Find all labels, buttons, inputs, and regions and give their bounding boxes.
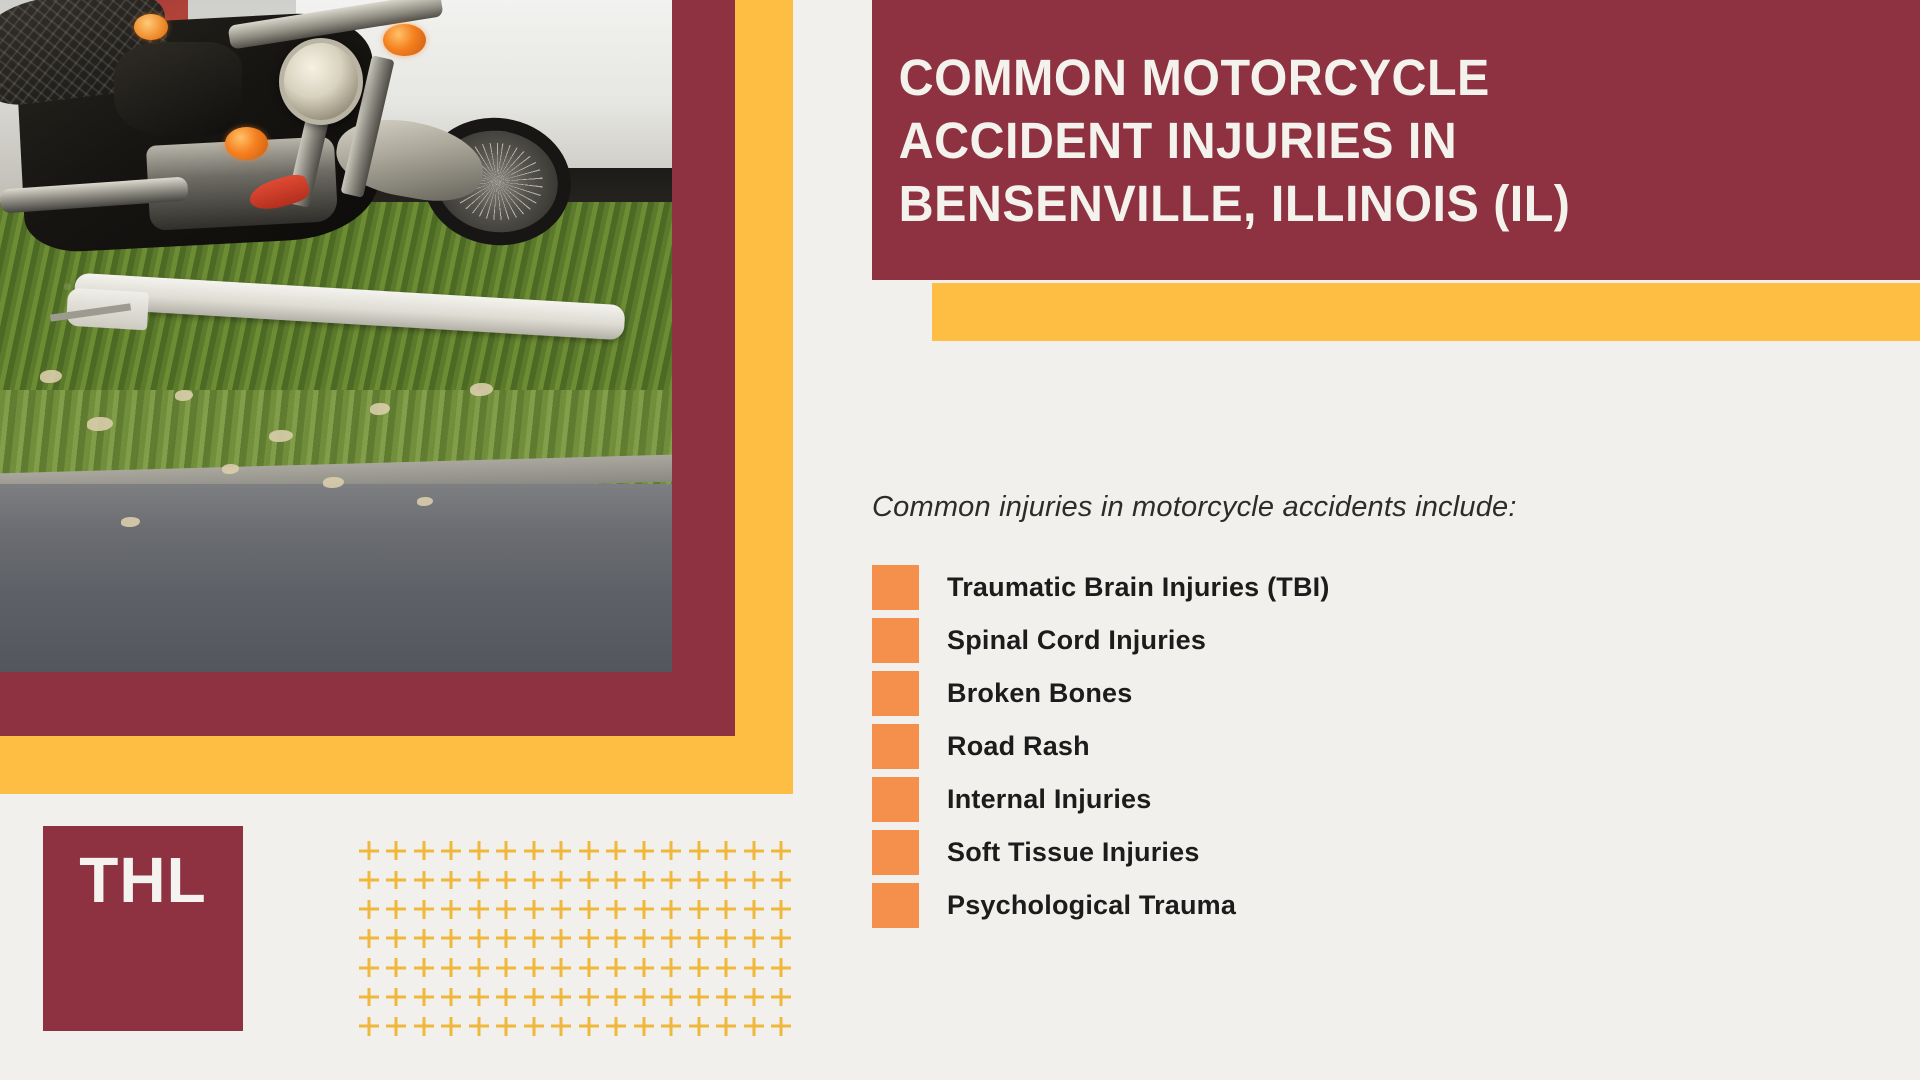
plus-icon: [465, 865, 493, 894]
plus-icon: [355, 895, 383, 924]
plus-icon: [658, 924, 686, 953]
plus-icon: [603, 895, 631, 924]
plus-icon: [355, 924, 383, 953]
plus-icon: [493, 982, 521, 1011]
plus-icon: [438, 865, 466, 894]
plus-icon: [355, 982, 383, 1011]
plus-icon: [768, 865, 796, 894]
plus-icon: [548, 836, 576, 865]
photo-fuel-tank: [114, 42, 242, 136]
plus-icon: [410, 982, 438, 1011]
photo-turn-signal-right: [383, 24, 426, 57]
bullet-square-icon: [872, 830, 919, 875]
plus-icon: [410, 836, 438, 865]
list-item-label: Traumatic Brain Injuries (TBI): [947, 572, 1330, 603]
plus-icon: [355, 836, 383, 865]
plus-icon: [438, 836, 466, 865]
list-item: Soft Tissue Injuries: [872, 830, 1772, 875]
plus-icon: [603, 924, 631, 953]
plus-icon: [630, 836, 658, 865]
plus-icon: [603, 953, 631, 982]
plus-icon: [465, 836, 493, 865]
plus-icon: [740, 924, 768, 953]
plus-icon: [548, 895, 576, 924]
photo-asphalt-road: [0, 484, 672, 672]
list-item-label: Internal Injuries: [947, 784, 1151, 815]
bullet-square-icon: [872, 565, 919, 610]
plus-icon: [768, 924, 796, 953]
bullet-square-icon: [872, 883, 919, 928]
plus-icon: [685, 1012, 713, 1041]
plus-icon: [548, 924, 576, 953]
plus-icon: [658, 982, 686, 1011]
plus-icon: [740, 982, 768, 1011]
plus-pattern-decoration: [355, 836, 795, 1041]
plus-icon: [438, 924, 466, 953]
plus-icon: [658, 1012, 686, 1041]
list-item: Psychological Trauma: [872, 883, 1772, 928]
list-item-label: Broken Bones: [947, 678, 1132, 709]
plus-icon: [493, 924, 521, 953]
plus-icon: [410, 924, 438, 953]
plus-icon: [630, 1012, 658, 1041]
plus-icon: [493, 836, 521, 865]
photo-illustration: [0, 0, 672, 672]
list-item-label: Road Rash: [947, 731, 1090, 762]
plus-icon: [548, 865, 576, 894]
plus-icon: [465, 924, 493, 953]
page-title: COMMON MOTORCYCLE ACCIDENT INJURIES IN B…: [872, 46, 1570, 235]
plus-icon: [355, 953, 383, 982]
plus-icon: [713, 836, 741, 865]
plus-icon: [740, 953, 768, 982]
plus-icon: [575, 953, 603, 982]
list-item-label: Soft Tissue Injuries: [947, 837, 1200, 868]
plus-icon: [740, 836, 768, 865]
plus-icon: [740, 1012, 768, 1041]
bullet-square-icon: [872, 618, 919, 663]
plus-icon: [713, 982, 741, 1011]
plus-icon: [410, 895, 438, 924]
plus-icon: [685, 953, 713, 982]
plus-icon: [520, 1012, 548, 1041]
plus-icon: [355, 1012, 383, 1041]
photo-turn-signal-rear: [134, 14, 168, 40]
plus-icon: [548, 953, 576, 982]
intro-text: Common injuries in motorcycle accidents …: [872, 491, 1517, 524]
plus-icon: [493, 953, 521, 982]
plus-icon: [465, 982, 493, 1011]
plus-icon: [383, 865, 411, 894]
plus-icon: [713, 924, 741, 953]
plus-icon: [630, 953, 658, 982]
plus-icon: [575, 895, 603, 924]
plus-icon: [465, 1012, 493, 1041]
plus-icon: [493, 1012, 521, 1041]
plus-icon: [383, 924, 411, 953]
plus-icon: [410, 953, 438, 982]
plus-icon: [520, 865, 548, 894]
plus-icon: [438, 1012, 466, 1041]
plus-icon: [603, 836, 631, 865]
list-item: Internal Injuries: [872, 777, 1772, 822]
photo-headlight: [279, 38, 363, 125]
plus-icon: [438, 982, 466, 1011]
plus-icon: [355, 865, 383, 894]
plus-icon: [520, 953, 548, 982]
plus-icon: [685, 836, 713, 865]
plus-icon: [438, 953, 466, 982]
plus-icon: [685, 982, 713, 1011]
plus-icon: [630, 982, 658, 1011]
list-item-label: Psychological Trauma: [947, 890, 1236, 921]
plus-icon: [493, 895, 521, 924]
plus-icon: [768, 836, 796, 865]
plus-icon: [713, 865, 741, 894]
injury-list: Traumatic Brain Injuries (TBI)Spinal Cor…: [872, 565, 1772, 936]
infographic-canvas: THL COMMON MOTORCYCLE ACCIDENT INJURIES …: [0, 0, 1920, 1080]
bullet-square-icon: [872, 671, 919, 716]
plus-icon: [685, 865, 713, 894]
plus-icon: [575, 865, 603, 894]
list-item: Broken Bones: [872, 671, 1772, 716]
plus-icon: [768, 1012, 796, 1041]
plus-icon: [685, 924, 713, 953]
thl-logo[interactable]: THL: [43, 826, 243, 1031]
plus-icon: [603, 982, 631, 1011]
photo-motorcycle: [0, 0, 672, 470]
photo-turn-signal-left: [225, 127, 268, 160]
plus-icon: [658, 953, 686, 982]
plus-icon: [603, 1012, 631, 1041]
logo-text: THL: [79, 848, 206, 912]
plus-icon: [768, 953, 796, 982]
plus-icon: [603, 865, 631, 894]
plus-icon: [493, 865, 521, 894]
plus-icon: [548, 982, 576, 1011]
plus-icon: [740, 895, 768, 924]
list-item-label: Spinal Cord Injuries: [947, 625, 1206, 656]
plus-icon: [465, 895, 493, 924]
plus-icon: [410, 1012, 438, 1041]
plus-icon: [410, 865, 438, 894]
bullet-square-icon: [872, 724, 919, 769]
list-item: Spinal Cord Injuries: [872, 618, 1772, 663]
plus-icon: [740, 865, 768, 894]
plus-icon: [713, 1012, 741, 1041]
plus-icon: [575, 924, 603, 953]
plus-icon: [383, 1012, 411, 1041]
plus-icon: [383, 953, 411, 982]
plus-icon: [768, 895, 796, 924]
bullet-square-icon: [872, 777, 919, 822]
plus-icon: [575, 836, 603, 865]
plus-icon: [685, 895, 713, 924]
plus-icon: [548, 1012, 576, 1041]
plus-icon: [658, 865, 686, 894]
plus-icon: [383, 836, 411, 865]
yellow-accent-bar: [932, 283, 1920, 341]
plus-icon: [383, 982, 411, 1011]
plus-icon: [520, 895, 548, 924]
plus-icon: [630, 865, 658, 894]
plus-icon: [658, 895, 686, 924]
list-item: Traumatic Brain Injuries (TBI): [872, 565, 1772, 610]
motorcycle-crash-photo: [0, 0, 672, 672]
plus-icon: [768, 982, 796, 1011]
plus-icon: [520, 982, 548, 1011]
plus-icon: [465, 953, 493, 982]
plus-icon: [520, 924, 548, 953]
plus-icon: [630, 895, 658, 924]
plus-icon: [438, 895, 466, 924]
photo-leaf: [222, 464, 239, 474]
list-item: Road Rash: [872, 724, 1772, 769]
plus-icon: [520, 836, 548, 865]
plus-icon: [575, 982, 603, 1011]
plus-icon: [658, 836, 686, 865]
title-banner: COMMON MOTORCYCLE ACCIDENT INJURIES IN B…: [872, 0, 1920, 280]
plus-icon: [630, 924, 658, 953]
plus-icon: [713, 895, 741, 924]
plus-icon: [575, 1012, 603, 1041]
plus-icon: [383, 895, 411, 924]
plus-icon: [713, 953, 741, 982]
photo-leaf: [175, 390, 193, 401]
